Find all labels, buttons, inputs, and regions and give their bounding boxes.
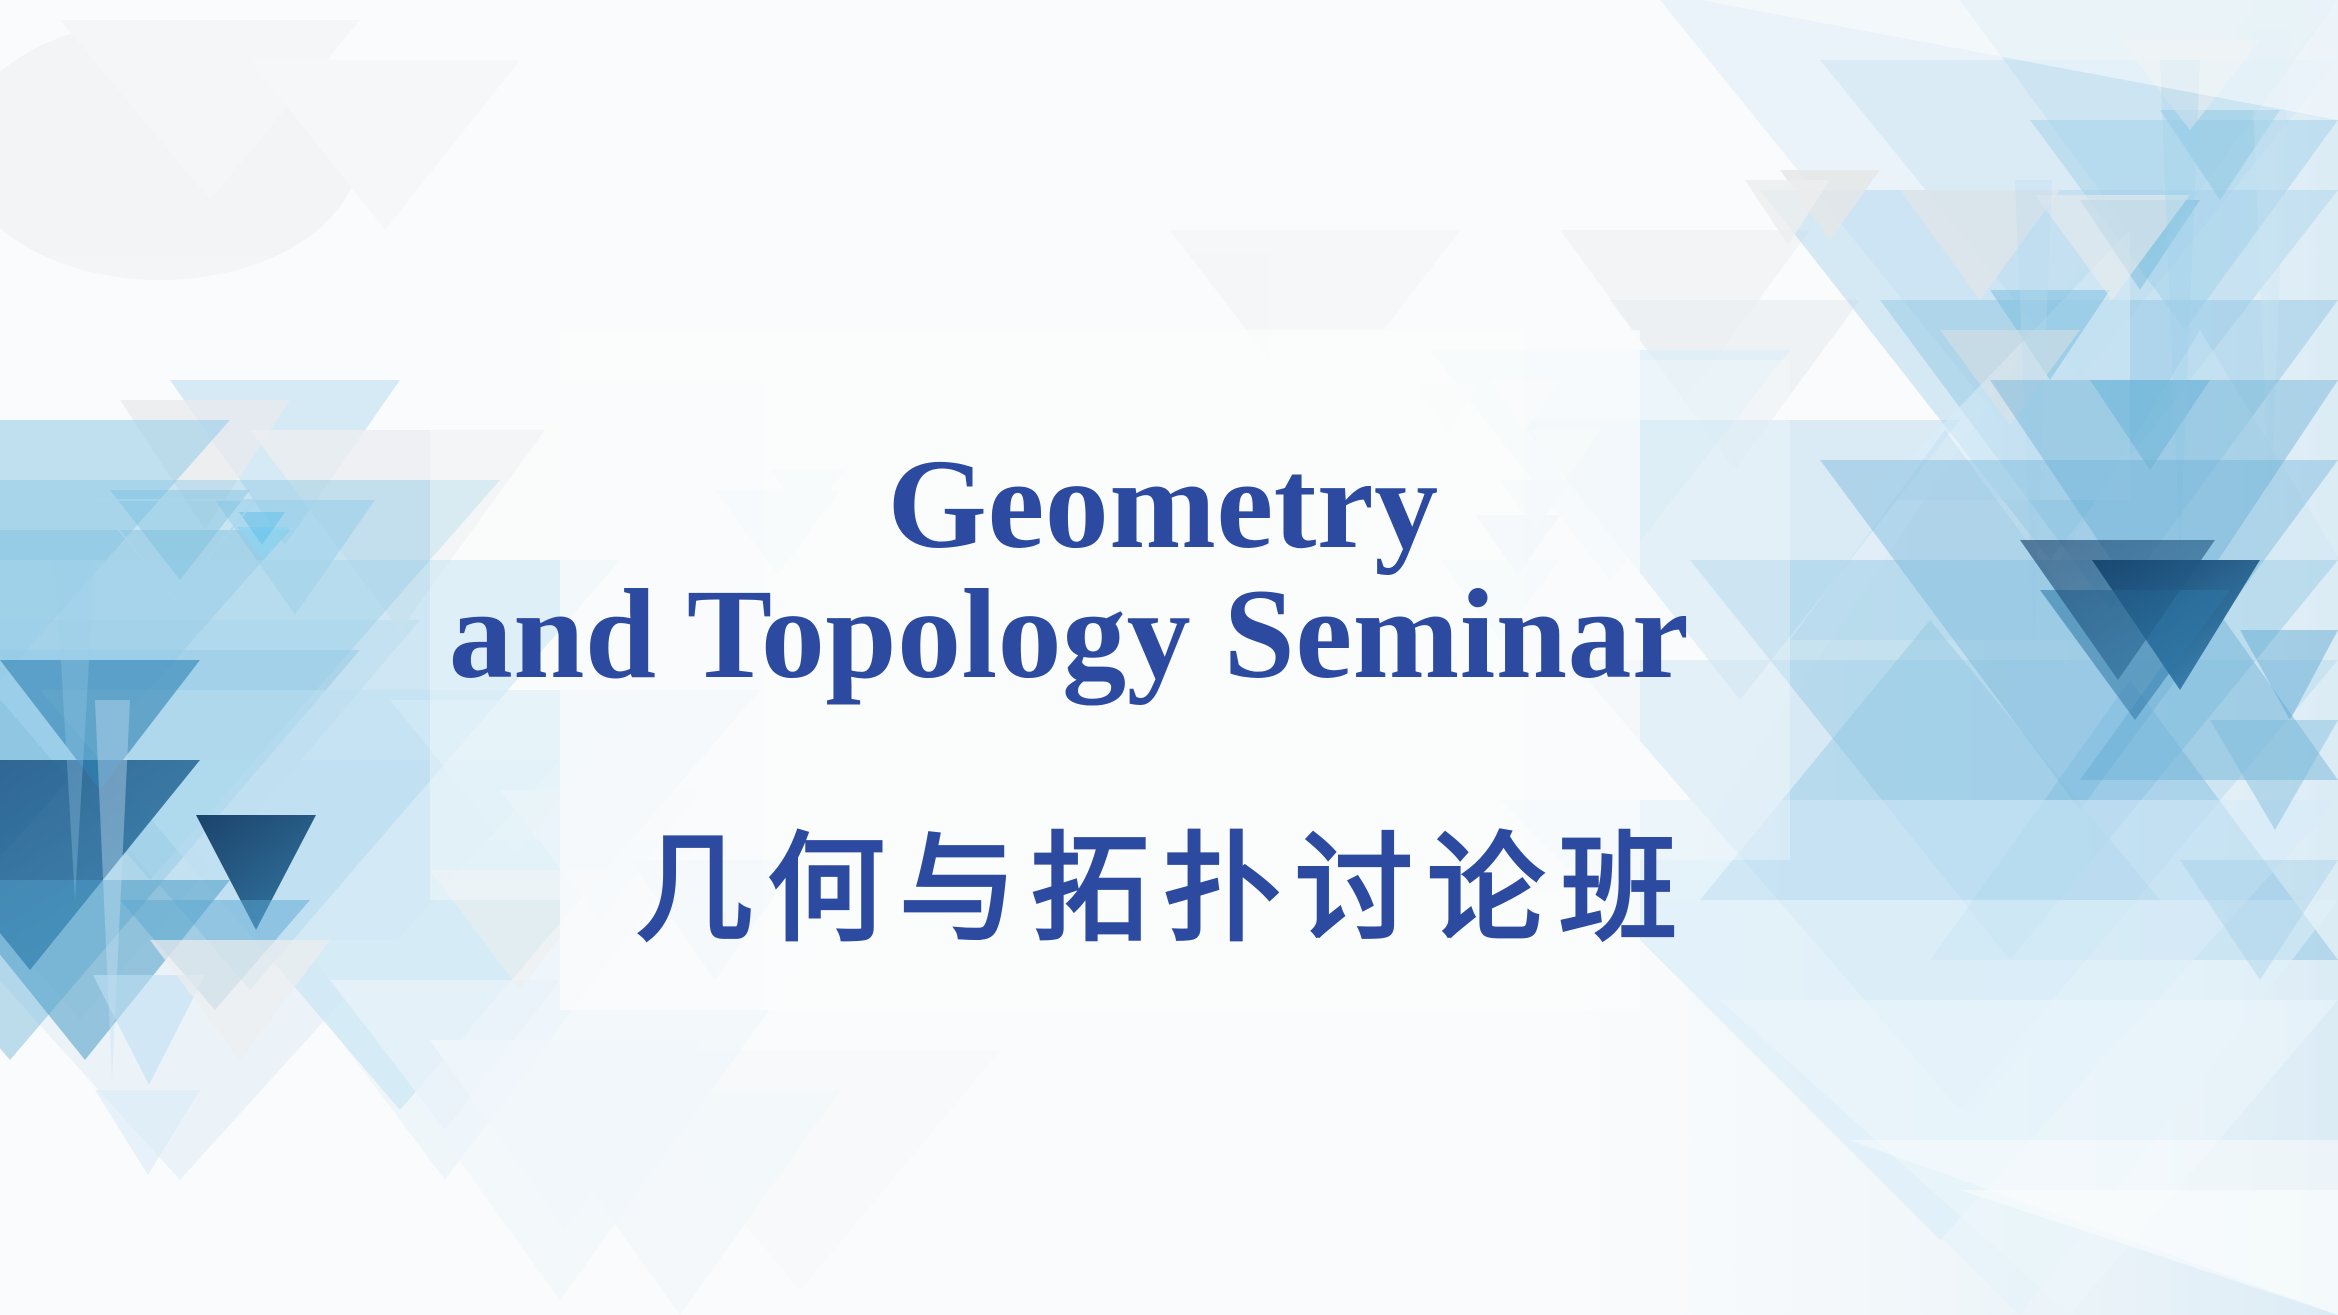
abstract-triangle-pattern-background: [0, 0, 2338, 1315]
text-readability-veil: [430, 330, 1790, 1010]
presentation-title-slide: Geometry and Topology Seminar 几何与拓扑讨论班: [0, 0, 2338, 1315]
